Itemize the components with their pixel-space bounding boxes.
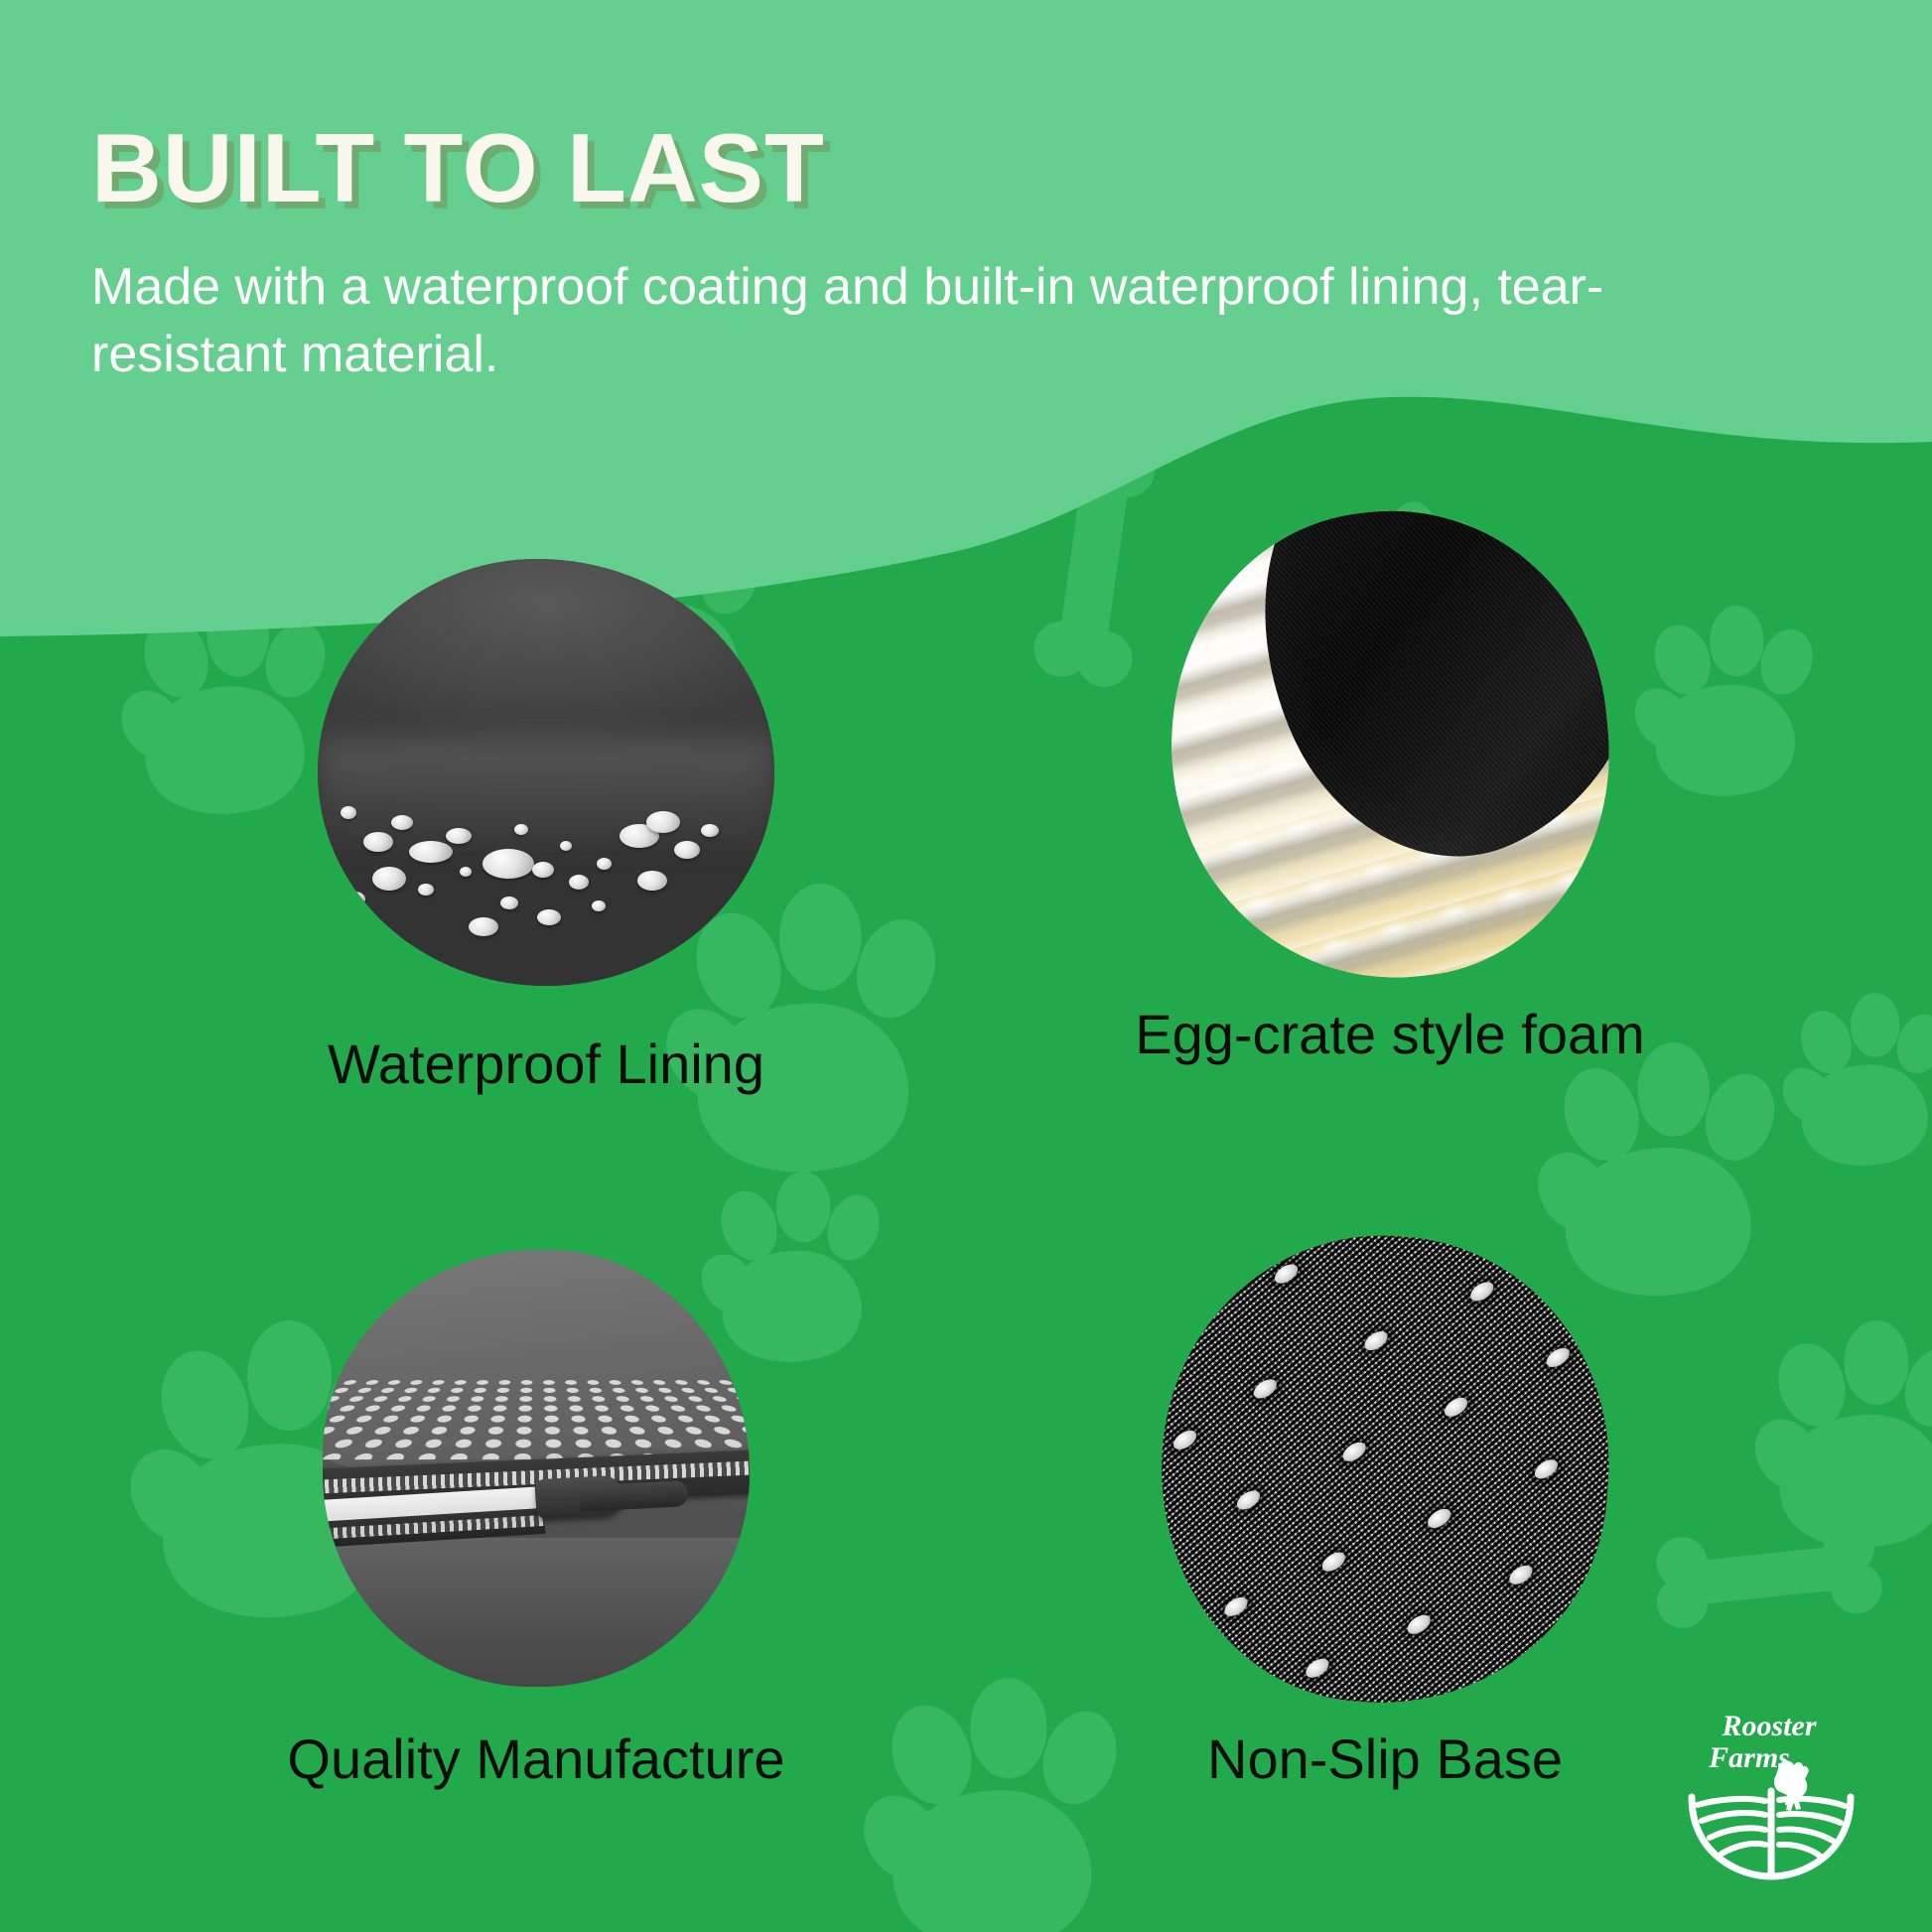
water-droplet: [560, 841, 572, 851]
thumb-wrap: [99, 1236, 973, 1703]
water-droplet: [391, 815, 413, 830]
quality-manufacture-image: [323, 1250, 750, 1687]
water-droplet: [537, 909, 561, 925]
thumb-wrap: [109, 541, 983, 1008]
non-slip-base-photo: [1146, 1221, 1624, 1718]
waterproof-lining-image: [318, 559, 774, 986]
water-droplet: [532, 862, 554, 878]
page-title: BUILT TO LAST: [91, 119, 1839, 218]
feature-caption: Egg-crate style foam: [953, 1004, 1827, 1065]
feature-cell-quality-manufacture: Quality Manufacture: [99, 1236, 973, 1790]
egg-crate-foam-photo: [1149, 489, 1632, 999]
feature-caption: Quality Manufacture: [99, 1728, 973, 1790]
water-droplet: [592, 900, 606, 911]
header-block: BUILT TO LAST Made with a waterproof coa…: [91, 119, 1839, 388]
feature-caption: Waterproof Lining: [109, 1034, 983, 1095]
water-droplet: [460, 867, 472, 877]
water-droplet: [514, 824, 528, 835]
water-droplet: [469, 917, 498, 936]
water-droplet: [646, 811, 680, 833]
perforated-dot-texture: [323, 1379, 750, 1460]
water-droplet: [446, 828, 472, 844]
feature-cell-egg-crate-foam: Egg-crate style foam: [953, 511, 1827, 1065]
non-slip-base-image: [1146, 1221, 1624, 1718]
water-droplet: [483, 849, 534, 879]
quality-manufacture-photo: [323, 1250, 750, 1687]
thumb-wrap: [953, 511, 1827, 978]
water-droplet: [500, 897, 518, 909]
water-droplet: [409, 841, 453, 863]
zipper-pull-tab: [578, 1481, 688, 1513]
egg-crate-foam-image: [1149, 489, 1632, 999]
feature-cell-waterproof-lining: Waterproof Lining: [109, 541, 983, 1095]
feature-grid: Waterproof Lining Egg-crate style foam: [0, 541, 1932, 1862]
rooster-farms-logo: Rooster Farms: [1662, 1706, 1880, 1884]
bottom-fabric-panel: [323, 1538, 750, 1687]
water-droplet: [345, 892, 365, 906]
water-droplet: [597, 858, 612, 870]
logo-line-1: Rooster: [1721, 1710, 1816, 1742]
page-subtitle: Made with a waterproof coating and built…: [91, 254, 1779, 388]
water-droplet: [418, 884, 434, 896]
water-droplet: [569, 875, 589, 890]
waterproof-lining-photo: [318, 559, 774, 986]
water-droplet: [701, 824, 719, 837]
water-droplet: [637, 871, 667, 891]
water-droplet: [674, 841, 700, 859]
water-droplet: [372, 867, 406, 891]
logo-line-2: Farms: [1708, 1741, 1790, 1774]
thumb-wrap: [948, 1236, 1822, 1703]
infographic-canvas: BUILT TO LAST Made with a waterproof coa…: [0, 0, 1932, 1932]
